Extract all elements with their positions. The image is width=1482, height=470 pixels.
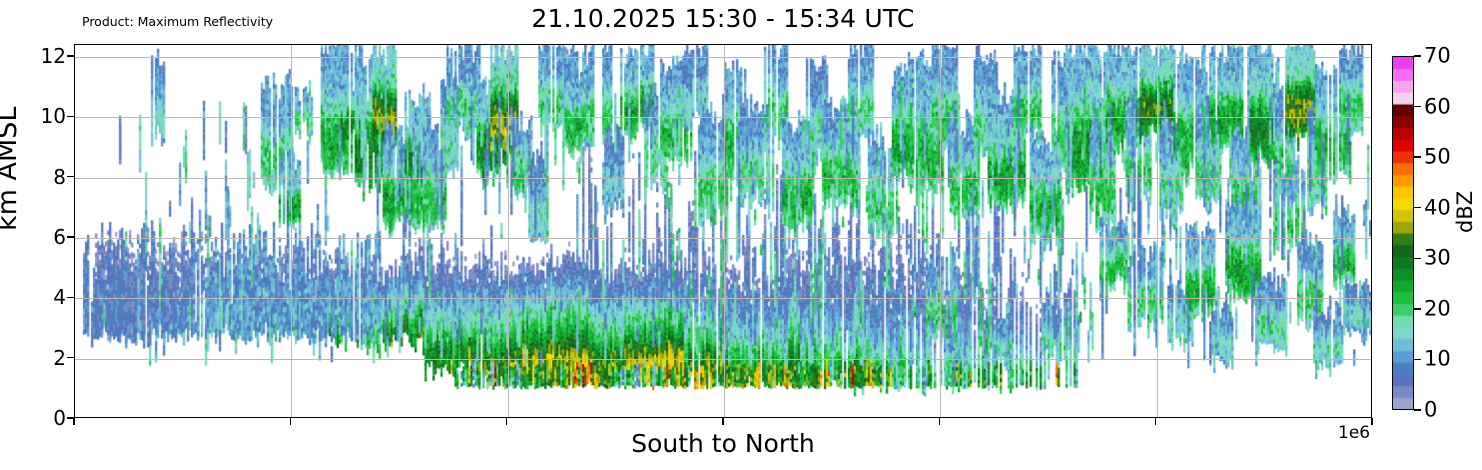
x-axis-tick [506,418,507,425]
colorbar-tick [1414,258,1421,259]
x-axis-tick [73,418,74,425]
gridline-vertical [291,45,292,417]
y-axis-tick [67,116,74,117]
y-axis-tick [67,236,74,237]
colorbar-tick [1414,308,1421,309]
gridline-vertical [940,45,941,417]
y-axis-tick-label: 10 [20,106,66,126]
colorbar-tick [1414,106,1421,107]
colorbar-tick [1414,55,1421,56]
gridline-horizontal [75,359,1371,360]
y-axis-label: km AMSL [0,107,21,231]
colorbar-tick-label: 10 [1424,349,1451,370]
y-axis-tick-label: 8 [20,167,66,187]
colorbar-gradient [1393,57,1413,409]
gridline-horizontal [75,178,1371,179]
y-axis-tick-label: 6 [20,227,66,247]
plot-area [74,44,1372,418]
reflectivity-heatmap [75,45,1371,417]
y-axis-tick [67,55,74,56]
y-axis-tick [67,176,74,177]
y-axis-tick-label: 0 [20,408,66,428]
x-axis-tick [939,418,940,425]
x-axis-tick [722,418,723,425]
product-label: Product: Maximum Reflectivity [82,14,273,29]
y-axis-tick-label: 4 [20,287,66,307]
gridline-vertical [724,45,725,417]
gridline-horizontal [75,117,1371,118]
colorbar-tick [1414,359,1421,360]
colorbar-tick-label: 50 [1424,147,1451,168]
gridline-vertical [1157,45,1158,417]
y-axis-tick [67,297,74,298]
colorbar [1392,56,1414,410]
gridline-horizontal [75,57,1371,58]
colorbar-tick [1414,207,1421,208]
radar-cross-section-figure: 21.10.2025 15:30 - 15:34 UTC Product: Ma… [0,0,1482,470]
colorbar-tick [1414,409,1421,410]
y-axis-tick-label: 12 [20,46,66,66]
colorbar-tick-label: 30 [1424,248,1451,269]
x-axis-label: South to North [74,430,1372,458]
gridline-horizontal [75,238,1371,239]
x-axis-tick [1371,418,1372,425]
y-axis-tick [67,357,74,358]
colorbar-tick [1414,156,1421,157]
gridline-horizontal [75,298,1371,299]
colorbar-tick-label: 40 [1424,197,1451,218]
y-axis-tick-label: 2 [20,348,66,368]
colorbar-tick-label: 70 [1424,46,1451,67]
x-axis-exponent: 1e6 [1338,424,1370,442]
x-axis-tick [290,418,291,425]
colorbar-tick-label: 0 [1424,400,1437,421]
x-axis-tick [1155,418,1156,425]
colorbar-tick-label: 60 [1424,96,1451,117]
colorbar-tick-label: 20 [1424,298,1451,319]
colorbar-title: dBZ [1455,191,1476,233]
gridline-vertical [508,45,509,417]
